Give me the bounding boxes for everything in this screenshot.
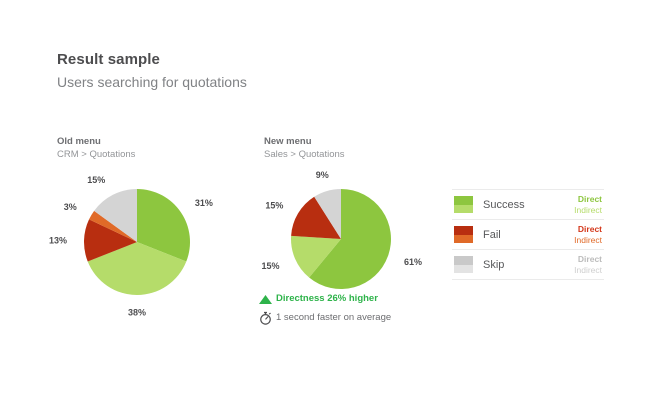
legend-swatch-fail [454,226,473,243]
legend-swatch-fail-direct [454,226,473,235]
stopwatch-icon [259,311,276,325]
pie-slice-label: 38% [128,308,146,318]
legend-label-success: Success [483,199,574,211]
legend-skip-direct-label: Direct [574,254,602,265]
pie-panel-new-menu: New menu Sales > Quotations 61%15%15%9% [264,136,444,317]
legend-label-skip: Skip [483,259,574,271]
legend-fail-indirect-label: Indirect [574,235,602,246]
legend-label-fail: Fail [483,229,574,241]
page-header: Result sample Users searching for quotat… [57,50,247,91]
footnote-directness: Directness 26% higher [259,291,459,307]
legend-swatch-success-indirect [454,205,473,214]
legend-swatch-skip-direct [454,256,473,265]
pie-slice-label: 61% [404,257,422,267]
legend-success-indirect-label: Indirect [574,205,602,216]
panel-path-new-menu: Sales > Quotations [264,148,444,161]
pie-svg-old-menu: 31%38%13%3%15% [57,167,237,317]
legend-row-success[interactable]: Success Direct Indirect [452,189,604,219]
legend-swatch-skip-indirect [454,265,473,274]
footnotes: Directness 26% higher 1 second faster on… [259,291,459,329]
panel-title-old-menu: Old menu [57,136,237,148]
page-subtitle: Users searching for quotations [57,73,247,91]
pie-slice-label: 13% [49,235,67,245]
panel-path-old-menu: CRM > Quotations [57,148,237,161]
legend-sub-success: Direct Indirect [574,194,602,216]
pie-panel-old-menu: Old menu CRM > Quotations 31%38%13%3%15% [57,136,237,317]
legend: Success Direct Indirect Fail Direct Indi… [452,189,604,280]
legend-row-skip[interactable]: Skip Direct Indirect [452,249,604,280]
legend-swatch-success [454,196,473,213]
pie-slice-label: 15% [261,261,279,271]
triangle-up-icon [259,295,276,304]
pie-slice-label: 15% [87,175,105,185]
footnote-speed: 1 second faster on average [259,310,459,326]
legend-skip-indirect-label: Indirect [574,265,602,276]
legend-success-direct-label: Direct [574,194,602,205]
pie-chart-old-menu: 31%38%13%3%15% [57,167,237,317]
legend-swatch-fail-indirect [454,235,473,244]
footnote-directness-label: Directness 26% higher [276,293,378,305]
footnote-speed-label: 1 second faster on average [276,312,391,324]
pie-slice-label: 3% [64,202,77,212]
legend-sub-skip: Direct Indirect [574,254,602,276]
panel-title-new-menu: New menu [264,136,444,148]
legend-swatch-success-direct [454,196,473,205]
page-title: Result sample [57,50,247,69]
pie-slice-label: 15% [265,200,283,210]
legend-swatch-skip [454,256,473,273]
pie-slice-label: 9% [316,170,329,180]
legend-row-fail[interactable]: Fail Direct Indirect [452,219,604,249]
pie-slice-label: 31% [195,198,213,208]
legend-sub-fail: Direct Indirect [574,224,602,246]
legend-fail-direct-label: Direct [574,224,602,235]
